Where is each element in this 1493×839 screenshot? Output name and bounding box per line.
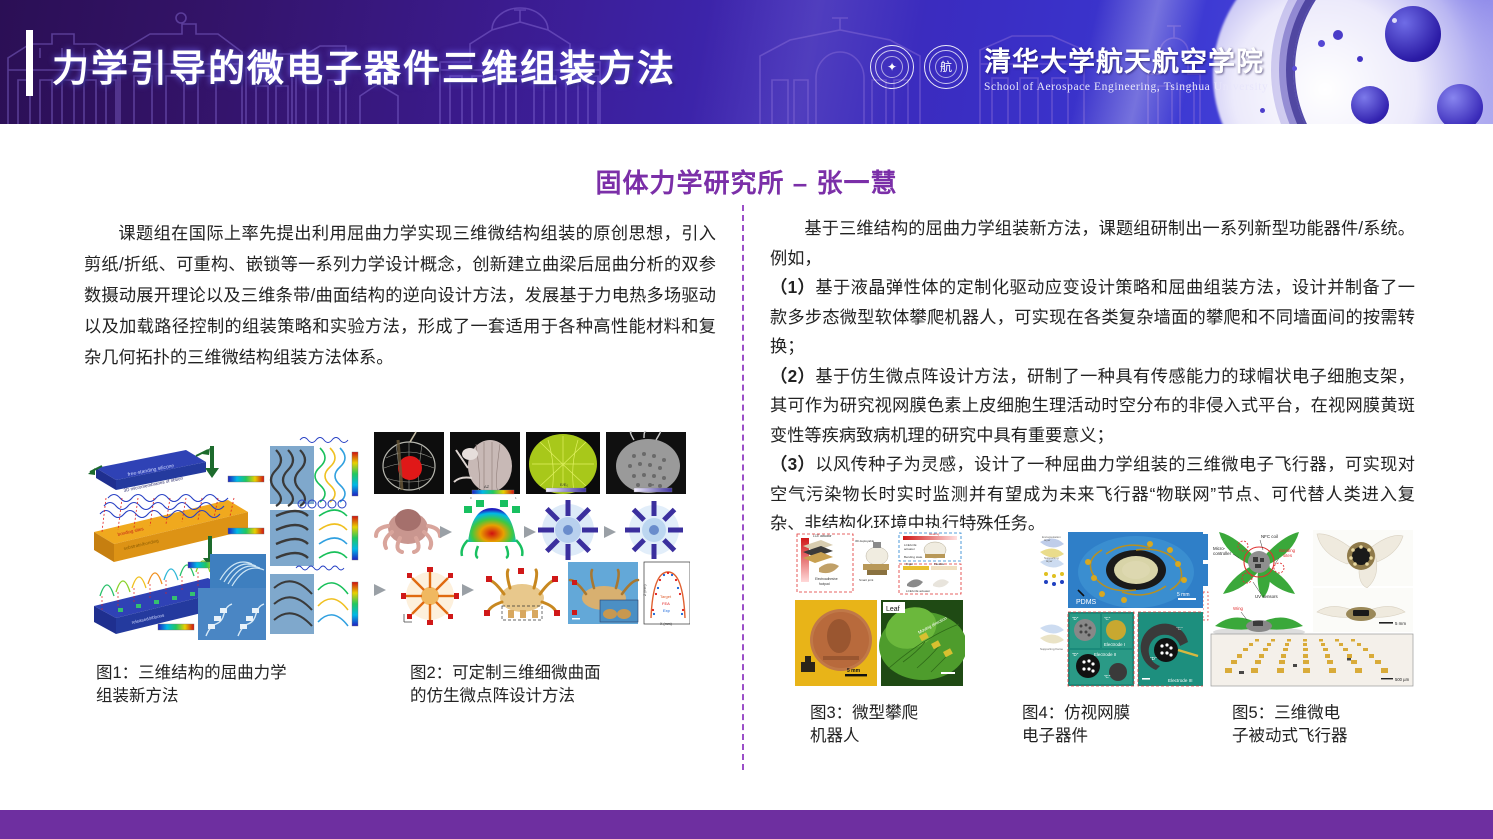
right-item-3: （3）以风传种子为灵感，设计了一种屈曲力学组装的三维微电子飞行器，可实现对空气污… (770, 450, 1415, 539)
right-column: 基于三维结构的屈曲力学组装新方法，课题组研制出一系列新型功能器件/系统。例如， … (770, 214, 1415, 539)
title-accent-bar (26, 30, 33, 96)
left-column: 课题组在国际上率先提出利用屈曲力学实现三维微结构组装的原创思想，引入剪纸/折纸、… (84, 218, 716, 373)
right-item-3-number: （3） (770, 454, 815, 474)
svg-text:LCE/LCE actuator: LCE/LCE actuator (906, 589, 930, 593)
svg-text:1: 1 (515, 496, 517, 500)
university-logo-group: ✦ 航 清华大学航天航空学院 School of Aerospace Engin… (870, 40, 1268, 93)
svg-text:Smart joint: Smart joint (859, 578, 874, 582)
right-item-1-text: 基于液晶弹性体的定制化驱动应变设计策略和屈曲组装方法，设计并制备了一款多步态微型… (770, 277, 1415, 356)
seal-star-icon: ✦ (887, 61, 897, 73)
svg-text:FEA: FEA (662, 601, 670, 606)
header-bubble (1357, 56, 1363, 62)
svg-text:"D": "D" (1072, 616, 1079, 621)
svg-text:Leaf: Leaf (886, 606, 900, 613)
figure-1-caption: 图1：三维结构的屈曲力学 组装新方法 (96, 662, 287, 708)
svg-text:X (mm): X (mm) (660, 622, 672, 626)
aerospace-school-seal-icon: 航 (924, 45, 968, 89)
svg-text:"C": "C" (1176, 626, 1183, 631)
figure-1-image: free-standing silicone substrate/bonding… (88, 428, 360, 640)
svg-text:"D": "D" (1072, 652, 1079, 657)
right-item-2-text: 基于仿生微点阵设计方法，研制了一种具有传感能力的球帽状电子细胞支架，其可作为研究… (770, 366, 1415, 445)
figure-3-image: LCE actuator Electroadhesive footpad 3D … (793, 528, 965, 688)
svg-text:"C": "C" (1104, 616, 1111, 621)
university-name-cn: 清华大学航天航空学院 (984, 40, 1268, 79)
header-bubble (1333, 30, 1343, 40)
svg-text:5 mm: 5 mm (1177, 592, 1190, 598)
right-item-1-number: （1） (770, 277, 815, 297)
svg-text:actuator: actuator (904, 547, 915, 551)
svg-text:"C": "C" (1104, 674, 1111, 679)
svg-text:ν: ν (652, 482, 654, 487)
header-bubble (1437, 84, 1483, 124)
svg-text:5 mm: 5 mm (1395, 621, 1406, 626)
svg-text:footpad: footpad (819, 582, 830, 586)
svg-text:Supporting frame: Supporting frame (1040, 647, 1063, 651)
seal-glyph-icon: 航 (940, 61, 952, 73)
svg-text:Rigid: Rigid (906, 562, 913, 566)
right-item-2-number: （2） (770, 366, 815, 386)
figure-2-image: ΔZ 0 1 E/E₀ (372, 428, 690, 626)
figure-3-caption: 图3：微型攀爬 机器人 (810, 702, 918, 748)
figure-5-image: NFC coil Micro- controller Bonding sites… (1203, 528, 1415, 688)
page-title: 力学引导的微电子器件三维组装方法 (52, 38, 676, 92)
university-name-block: 清华大学航天航空学院 School of Aerospace Engineeri… (984, 40, 1268, 93)
svg-text:0: 0 (470, 496, 472, 500)
svg-text:E/E₀: E/E₀ (560, 482, 568, 487)
svg-text:5 mm: 5 mm (847, 668, 861, 674)
right-item-3-text: 以风传种子为灵感，设计了一种屈曲力学组装的三维微电子飞行器，可实现对空气污染物长… (770, 454, 1415, 533)
svg-text:UV sensors: UV sensors (1255, 594, 1278, 599)
left-paragraph: 课题组在国际上率先提出利用屈曲力学实现三维微结构组装的原创思想，引入剪纸/折纸、… (84, 218, 716, 373)
svg-text:Z (mm): Z (mm) (643, 584, 647, 596)
header-bubble (1392, 18, 1397, 23)
svg-text:Flexible: Flexible (934, 562, 945, 566)
header-bubble (1318, 40, 1325, 47)
svg-text:layer: layer (1044, 538, 1051, 542)
svg-text:Wing: Wing (1233, 606, 1244, 611)
figure-5-caption: 图5：三维微电 子被动式飞行器 (1232, 702, 1348, 748)
header-bubble (1351, 86, 1389, 124)
page-header: 力学引导的微电子器件三维组装方法 ✦ 航 清华大学航天航空学院 School o… (0, 0, 1493, 124)
right-intro-paragraph: 基于三维结构的屈曲力学组装新方法，课题组研制出一系列新型功能器件/系统。例如， (770, 214, 1415, 273)
svg-text:Target: Target (660, 594, 672, 599)
svg-text:Electrode II: Electrode II (1094, 652, 1116, 657)
svg-text:"D": "D" (1150, 656, 1157, 661)
svg-text:Electrode III: Electrode III (1168, 678, 1193, 683)
right-item-2: （2）基于仿生微点阵设计方法，研制了一种具有传感能力的球帽状电子细胞支架，其可作… (770, 362, 1415, 451)
svg-text:Bending state: Bending state (904, 555, 923, 559)
svg-text:500 µm: 500 µm (1395, 677, 1410, 682)
tsinghua-university-seal-icon: ✦ (870, 45, 914, 89)
footer-bar (0, 810, 1493, 839)
svg-text:Exp: Exp (663, 608, 671, 613)
figure-2-caption: 图2：可定制三维细微曲面 的仿生微点阵设计方法 (410, 662, 601, 708)
section-subtitle: 固体力学研究所 – 张一慧 (0, 163, 1493, 200)
column-divider (742, 205, 744, 770)
header-bubble (1385, 6, 1441, 62)
svg-text:ΔZ: ΔZ (484, 484, 490, 489)
svg-text:Electroadhesive: Electroadhesive (815, 577, 838, 581)
figure-4-image: Encapsulation layer Supporting layer Sup… (1038, 528, 1204, 688)
figure-4-caption: 图4：仿视网膜 电子器件 (1022, 702, 1130, 748)
svg-text:PDMS: PDMS (1076, 599, 1097, 606)
university-name-en: School of Aerospace Engineering, Tsinghu… (984, 81, 1268, 93)
svg-text:Electrode I: Electrode I (1104, 642, 1125, 647)
right-item-1: （1）基于液晶弹性体的定制化驱动应变设计策略和屈曲组装方法，设计并制备了一款多步… (770, 273, 1415, 362)
svg-text:controller: controller (1213, 551, 1232, 556)
svg-text:sites: sites (1283, 553, 1293, 558)
svg-text:layer: layer (1046, 559, 1053, 563)
svg-text:NFC coil: NFC coil (1261, 534, 1278, 539)
svg-text:LCE actuator: LCE actuator (813, 534, 833, 538)
svg-text:3D deployable: 3D deployable (855, 539, 875, 543)
svg-text:Heating: Heating (929, 532, 940, 536)
